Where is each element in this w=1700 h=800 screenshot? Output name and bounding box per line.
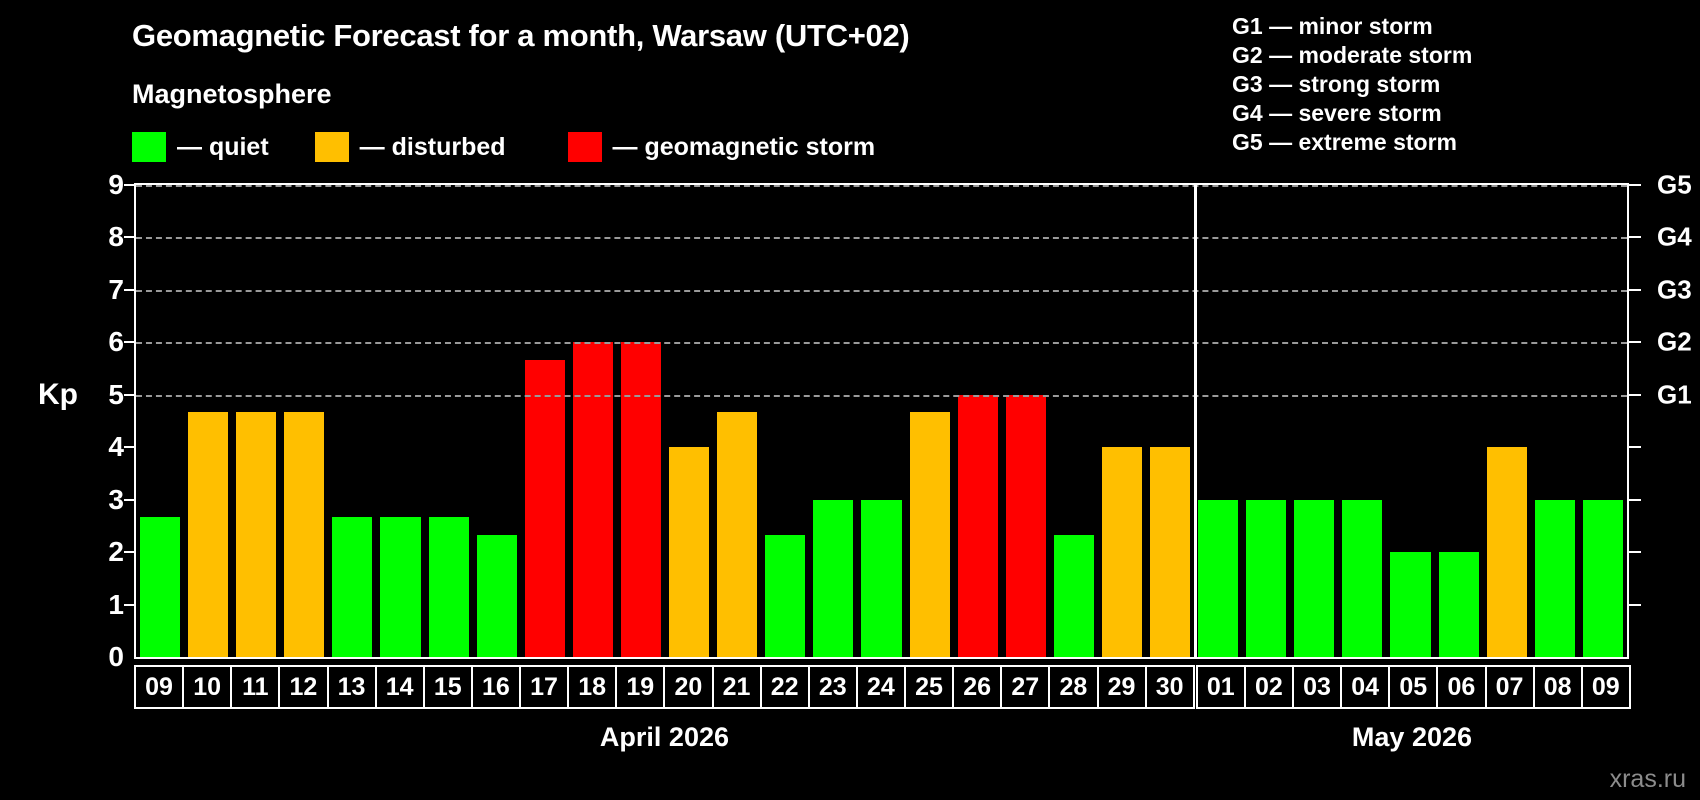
g-tick-mark-minor-1 xyxy=(1629,604,1641,606)
month-label-1: April 2026 xyxy=(600,722,729,753)
g-scale-row-4: G4 — severe storm xyxy=(1232,99,1472,128)
bar-04[interactable] xyxy=(1342,500,1382,657)
bar-cell[interactable] xyxy=(232,185,280,657)
bar-cell[interactable] xyxy=(1002,185,1050,657)
bar-05[interactable] xyxy=(1390,552,1430,657)
day-label-9[interactable]: 18 xyxy=(567,665,617,709)
day-label-26[interactable]: 05 xyxy=(1388,665,1438,709)
bar-23[interactable] xyxy=(813,500,853,657)
y-axis-label: Kp xyxy=(38,378,78,412)
bar-28[interactable] xyxy=(1054,535,1094,657)
bar-29[interactable] xyxy=(1102,447,1142,657)
g-tick-mark-minor-4 xyxy=(1629,446,1641,448)
bar-cell[interactable] xyxy=(713,185,761,657)
gridline-kp-8 xyxy=(136,237,1627,239)
y-tick-label-6: 6 xyxy=(108,326,124,358)
day-label-5[interactable]: 14 xyxy=(375,665,425,709)
gridline-kp-9 xyxy=(136,185,1627,187)
bar-02[interactable] xyxy=(1246,500,1286,657)
day-label-20[interactable]: 29 xyxy=(1097,665,1147,709)
month-label-2: May 2026 xyxy=(1352,722,1472,753)
day-label-18[interactable]: 27 xyxy=(1000,665,1050,709)
g-scale-row-3: G3 — strong storm xyxy=(1232,70,1472,99)
g-tick-label-G2: G2 xyxy=(1657,327,1692,358)
y-tick-label-9: 9 xyxy=(108,169,124,201)
bar-cell[interactable] xyxy=(136,185,184,657)
bar-cell[interactable] xyxy=(425,185,473,657)
bar-cell[interactable] xyxy=(1483,185,1531,657)
bar-cell[interactable] xyxy=(1098,185,1146,657)
page-title: Geomagnetic Forecast for a month, Warsaw… xyxy=(132,18,909,54)
y-tick-label-0: 0 xyxy=(108,641,124,673)
legend-item-quiet: — quiet xyxy=(132,132,269,162)
day-label-3[interactable]: 12 xyxy=(278,665,328,709)
bar-27[interactable] xyxy=(1006,395,1046,657)
bar-cell[interactable] xyxy=(1531,185,1579,657)
day-label-14[interactable]: 23 xyxy=(808,665,858,709)
day-label-23[interactable]: 02 xyxy=(1244,665,1294,709)
day-label-0[interactable]: 09 xyxy=(134,665,184,709)
legend-swatch-quiet xyxy=(132,132,166,162)
bar-06[interactable] xyxy=(1439,552,1479,657)
bar-cell[interactable] xyxy=(665,185,713,657)
bar-22[interactable] xyxy=(765,535,805,657)
g-tick-mark-G1 xyxy=(1629,394,1641,396)
g-tick-mark-G4 xyxy=(1629,236,1641,238)
month-divider xyxy=(1194,185,1197,657)
bar-15[interactable] xyxy=(429,517,469,657)
g-tick-mark-G5 xyxy=(1629,184,1641,186)
bar-19[interactable] xyxy=(621,342,661,657)
bar-cell[interactable] xyxy=(1050,185,1098,657)
day-label-22[interactable]: 01 xyxy=(1196,665,1246,709)
day-label-25[interactable]: 04 xyxy=(1340,665,1390,709)
day-label-4[interactable]: 13 xyxy=(327,665,377,709)
bar-09[interactable] xyxy=(1583,500,1623,657)
legend-item-storm: — geomagnetic storm xyxy=(568,132,876,162)
bar-series xyxy=(136,185,1627,657)
bar-cell[interactable] xyxy=(857,185,905,657)
bar-03[interactable] xyxy=(1294,500,1334,657)
bar-01[interactable] xyxy=(1198,500,1238,657)
bar-cell[interactable] xyxy=(809,185,857,657)
bar-cell[interactable] xyxy=(184,185,232,657)
g-scale-row-1: G1 — minor storm xyxy=(1232,12,1472,41)
day-label-21[interactable]: 30 xyxy=(1145,665,1195,709)
bar-cell[interactable] xyxy=(617,185,665,657)
g-scale-row-2: G2 — moderate storm xyxy=(1232,41,1472,70)
bar-cell[interactable] xyxy=(569,185,617,657)
y-tick-label-2: 2 xyxy=(108,536,124,568)
gridline-kp-5 xyxy=(136,395,1627,397)
y-tick-label-7: 7 xyxy=(108,274,124,306)
bar-cell[interactable] xyxy=(1579,185,1627,657)
day-label-6[interactable]: 15 xyxy=(423,665,473,709)
day-label-28[interactable]: 07 xyxy=(1485,665,1535,709)
day-label-30[interactable]: 09 xyxy=(1581,665,1631,709)
g-axis: G1G2G3G4G5 xyxy=(1629,183,1700,659)
gridline-kp-6 xyxy=(136,342,1627,344)
bar-07[interactable] xyxy=(1487,447,1527,657)
day-label-1[interactable]: 10 xyxy=(182,665,232,709)
bar-cell[interactable] xyxy=(1146,185,1194,657)
color-legend: — quiet— disturbed— geomagnetic storm xyxy=(132,131,875,163)
day-label-17[interactable]: 26 xyxy=(952,665,1002,709)
bar-cell[interactable] xyxy=(328,185,376,657)
day-label-7[interactable]: 16 xyxy=(471,665,521,709)
legend-label-quiet: — quiet xyxy=(177,133,269,162)
legend-label-storm: — geomagnetic storm xyxy=(613,133,876,162)
forecast-page: Geomagnetic Forecast for a month, Warsaw… xyxy=(0,0,1700,800)
bar-24[interactable] xyxy=(861,500,901,657)
day-label-13[interactable]: 22 xyxy=(760,665,810,709)
day-label-8[interactable]: 17 xyxy=(519,665,569,709)
y-tick-label-1: 1 xyxy=(108,589,124,621)
g-tick-label-G4: G4 xyxy=(1657,222,1692,253)
bar-cell[interactable] xyxy=(1338,185,1386,657)
bar-cell[interactable] xyxy=(761,185,809,657)
bar-26[interactable] xyxy=(958,395,998,657)
bar-11[interactable] xyxy=(236,412,276,657)
day-label-12[interactable]: 21 xyxy=(712,665,762,709)
bar-cell[interactable] xyxy=(1386,185,1434,657)
chart-subtitle: Magnetosphere xyxy=(132,79,332,110)
y-tick-label-8: 8 xyxy=(108,221,124,253)
g-scale-legend: G1 — minor stormG2 — moderate stormG3 — … xyxy=(1232,12,1472,157)
g-scale-row-5: G5 — extreme storm xyxy=(1232,128,1472,157)
legend-swatch-storm xyxy=(568,132,602,162)
day-label-16[interactable]: 25 xyxy=(904,665,954,709)
day-label-2[interactable]: 11 xyxy=(230,665,280,709)
bar-cell[interactable] xyxy=(1435,185,1483,657)
bar-18[interactable] xyxy=(573,342,613,657)
bar-cell[interactable] xyxy=(1242,185,1290,657)
legend-item-disturbed: — disturbed xyxy=(315,132,506,162)
bar-cell[interactable] xyxy=(521,185,569,657)
bar-cell[interactable] xyxy=(906,185,954,657)
y-tick-label-3: 3 xyxy=(108,484,124,516)
bar-cell[interactable] xyxy=(1194,185,1242,657)
g-tick-label-G5: G5 xyxy=(1657,170,1692,201)
bar-14[interactable] xyxy=(380,517,420,657)
bar-10[interactable] xyxy=(188,412,228,657)
bar-21[interactable] xyxy=(717,412,757,657)
bar-25[interactable] xyxy=(910,412,950,657)
bar-08[interactable] xyxy=(1535,500,1575,657)
plot-inner xyxy=(136,185,1627,657)
bar-20[interactable] xyxy=(669,447,709,657)
g-tick-mark-minor-2 xyxy=(1629,551,1641,553)
g-tick-mark-minor-3 xyxy=(1629,499,1641,501)
bar-13[interactable] xyxy=(332,517,372,657)
y-tick-label-4: 4 xyxy=(108,431,124,463)
day-label-27[interactable]: 06 xyxy=(1436,665,1486,709)
g-tick-label-G1: G1 xyxy=(1657,379,1692,410)
day-axis: 0910111213141516171819202122232425262728… xyxy=(134,665,1629,709)
bar-cell[interactable] xyxy=(376,185,424,657)
bar-cell[interactable] xyxy=(954,185,1002,657)
y-tick-label-5: 5 xyxy=(108,379,124,411)
day-label-29[interactable]: 08 xyxy=(1533,665,1583,709)
plot-area xyxy=(134,183,1629,659)
day-label-24[interactable]: 03 xyxy=(1292,665,1342,709)
bar-cell[interactable] xyxy=(1290,185,1338,657)
bar-30[interactable] xyxy=(1150,447,1190,657)
gridline-kp-7 xyxy=(136,290,1627,292)
bar-17[interactable] xyxy=(525,360,565,657)
watermark: xras.ru xyxy=(1610,765,1686,794)
bar-16[interactable] xyxy=(477,535,517,657)
day-label-19[interactable]: 28 xyxy=(1048,665,1098,709)
bar-cell[interactable] xyxy=(473,185,521,657)
bar-09[interactable] xyxy=(140,517,180,657)
bar-cell[interactable] xyxy=(280,185,328,657)
bar-12[interactable] xyxy=(284,412,324,657)
day-label-11[interactable]: 20 xyxy=(663,665,713,709)
y-axis: 0123456789 xyxy=(0,183,134,659)
g-tick-mark-G3 xyxy=(1629,289,1641,291)
g-tick-label-G3: G3 xyxy=(1657,274,1692,305)
day-label-15[interactable]: 24 xyxy=(856,665,906,709)
legend-label-disturbed: — disturbed xyxy=(360,133,506,162)
g-tick-mark-G2 xyxy=(1629,341,1641,343)
legend-swatch-disturbed xyxy=(315,132,349,162)
day-label-10[interactable]: 19 xyxy=(615,665,665,709)
